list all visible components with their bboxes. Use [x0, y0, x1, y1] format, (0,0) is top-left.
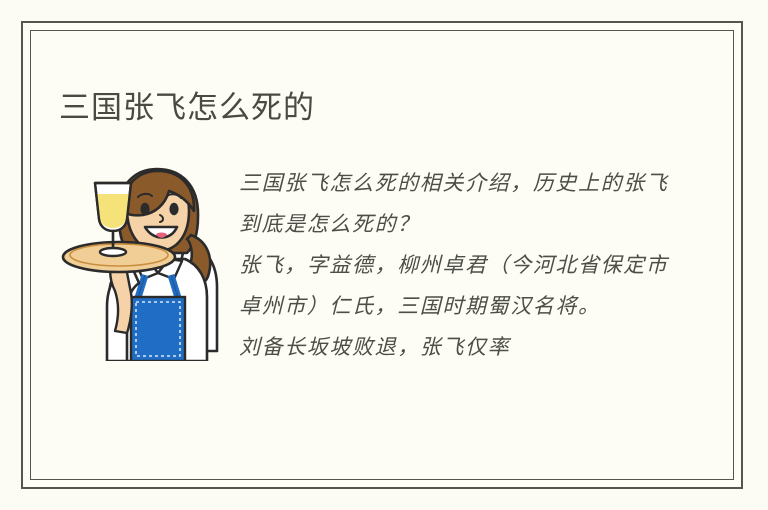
article-paragraph-3: 刘备长坂坡败退，张飞仅率	[239, 327, 689, 368]
waitress-with-tray-icon	[57, 161, 223, 361]
page-title: 三国张飞怎么死的	[59, 89, 315, 128]
article-body: 三国张飞怎么死的相关介绍，历史上的张飞到底是怎么死的？ 张飞，字益德，柳州卓君（…	[239, 163, 689, 368]
illustration-waitress	[57, 161, 223, 361]
page-frame-outer: 三国张飞怎么死的	[21, 21, 743, 489]
content-area: 三国张飞怎么死的相关介绍，历史上的张飞到底是怎么死的？ 张飞，字益德，柳州卓君（…	[31, 143, 733, 479]
